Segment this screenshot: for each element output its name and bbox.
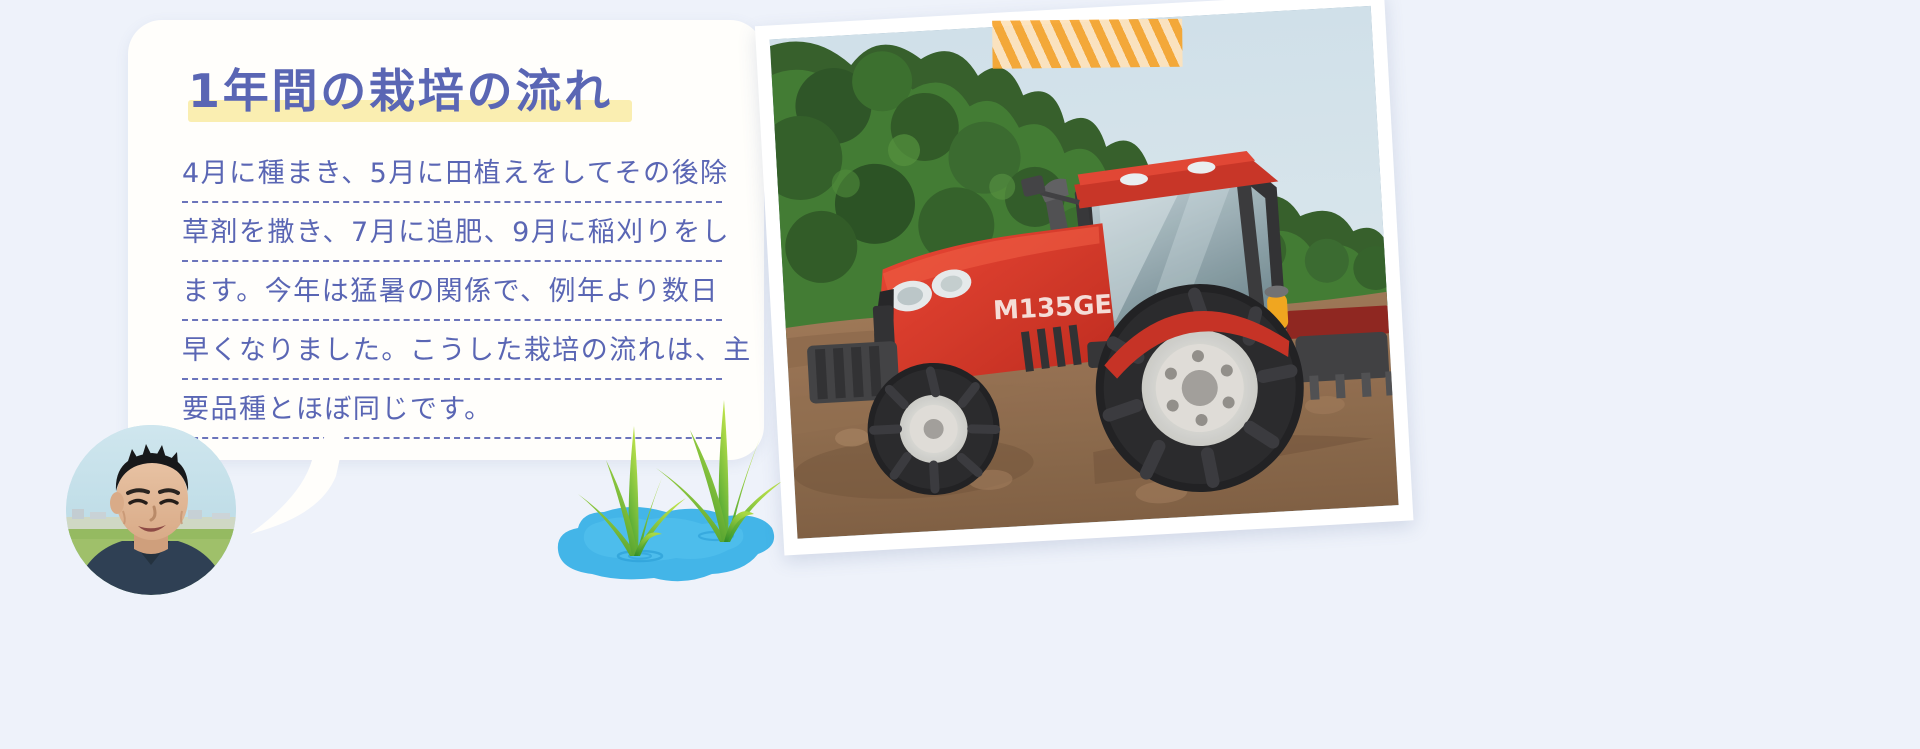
page-title: 1年間の栽培の流れ — [188, 62, 613, 120]
washi-tape-icon — [992, 19, 1182, 69]
photo-frame: M135GE — [755, 0, 1414, 555]
text-line: 4月に種まき、5月に田植えをしてその後除 — [182, 144, 722, 203]
title-block: 1年間の栽培の流れ — [188, 62, 708, 132]
text-line: ます。今年は猛暑の関係で、例年より数日 — [182, 262, 722, 321]
text-line-content: 4月に種まき、5月に田植えをしてその後除 — [182, 152, 729, 201]
photo-image: M135GE — [770, 6, 1399, 539]
speech-bubble-tail — [228, 430, 348, 530]
text-line-content: ます。今年は猛暑の関係で、例年より数日 — [182, 270, 719, 319]
page-root: 1年間の栽培の流れ 4月に種まき、5月に田植えをしてその後除 草剤を撒き、7月に… — [0, 0, 1920, 749]
tractor-photo: M135GE — [755, 0, 1425, 585]
text-line-content: 草剤を撒き、7月に追肥、9月に稲刈りをし — [182, 211, 730, 260]
text-line: 草剤を撒き、7月に追肥、9月に稲刈りをし — [182, 203, 722, 262]
avatar — [66, 425, 236, 595]
